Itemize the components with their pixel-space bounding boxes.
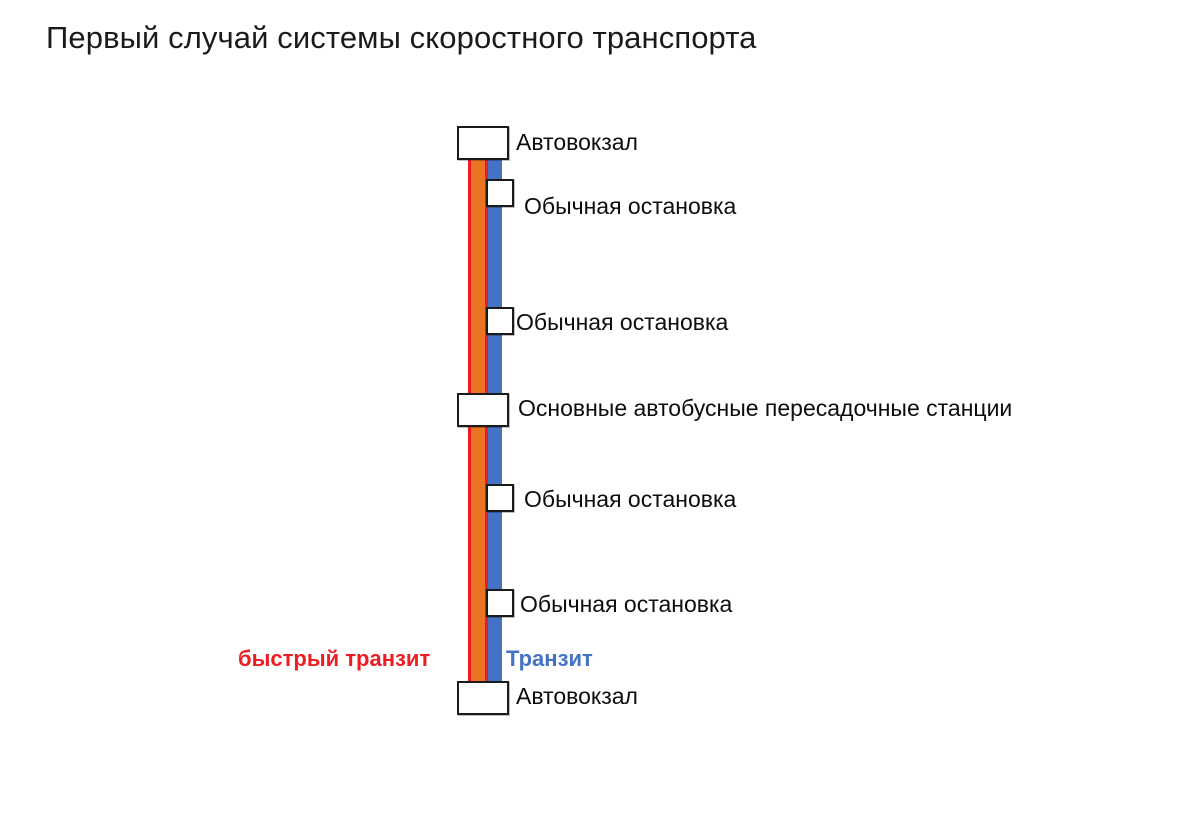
station-label-6: Обычная остановка xyxy=(520,590,732,618)
station-label-1: Автовокзал xyxy=(516,128,638,156)
station-marker-interchange[interactable] xyxy=(457,393,509,427)
station-marker-terminal-top[interactable] xyxy=(457,126,509,160)
station-label-5: Обычная остановка xyxy=(524,485,736,513)
legend-label-rapid-transit: быстрый транзит xyxy=(238,645,430,673)
station-marker-local-4[interactable] xyxy=(486,589,514,617)
station-marker-local-3[interactable] xyxy=(486,484,514,512)
station-label-7: Автовокзал xyxy=(516,682,638,710)
station-marker-local-1[interactable] xyxy=(486,179,514,207)
station-marker-terminal-bottom[interactable] xyxy=(457,681,509,715)
station-label-4: Основные автобусные пересадочные станции xyxy=(518,394,1012,422)
station-label-3: Обычная остановка xyxy=(516,308,728,336)
slide-canvas: Первый случай системы скоростного трансп… xyxy=(0,0,1200,816)
station-marker-local-2[interactable] xyxy=(486,307,514,335)
station-label-2: Обычная остановка xyxy=(524,192,736,220)
legend-label-transit: Транзит xyxy=(506,645,593,673)
page-title: Первый случай системы скоростного трансп… xyxy=(46,18,1146,58)
